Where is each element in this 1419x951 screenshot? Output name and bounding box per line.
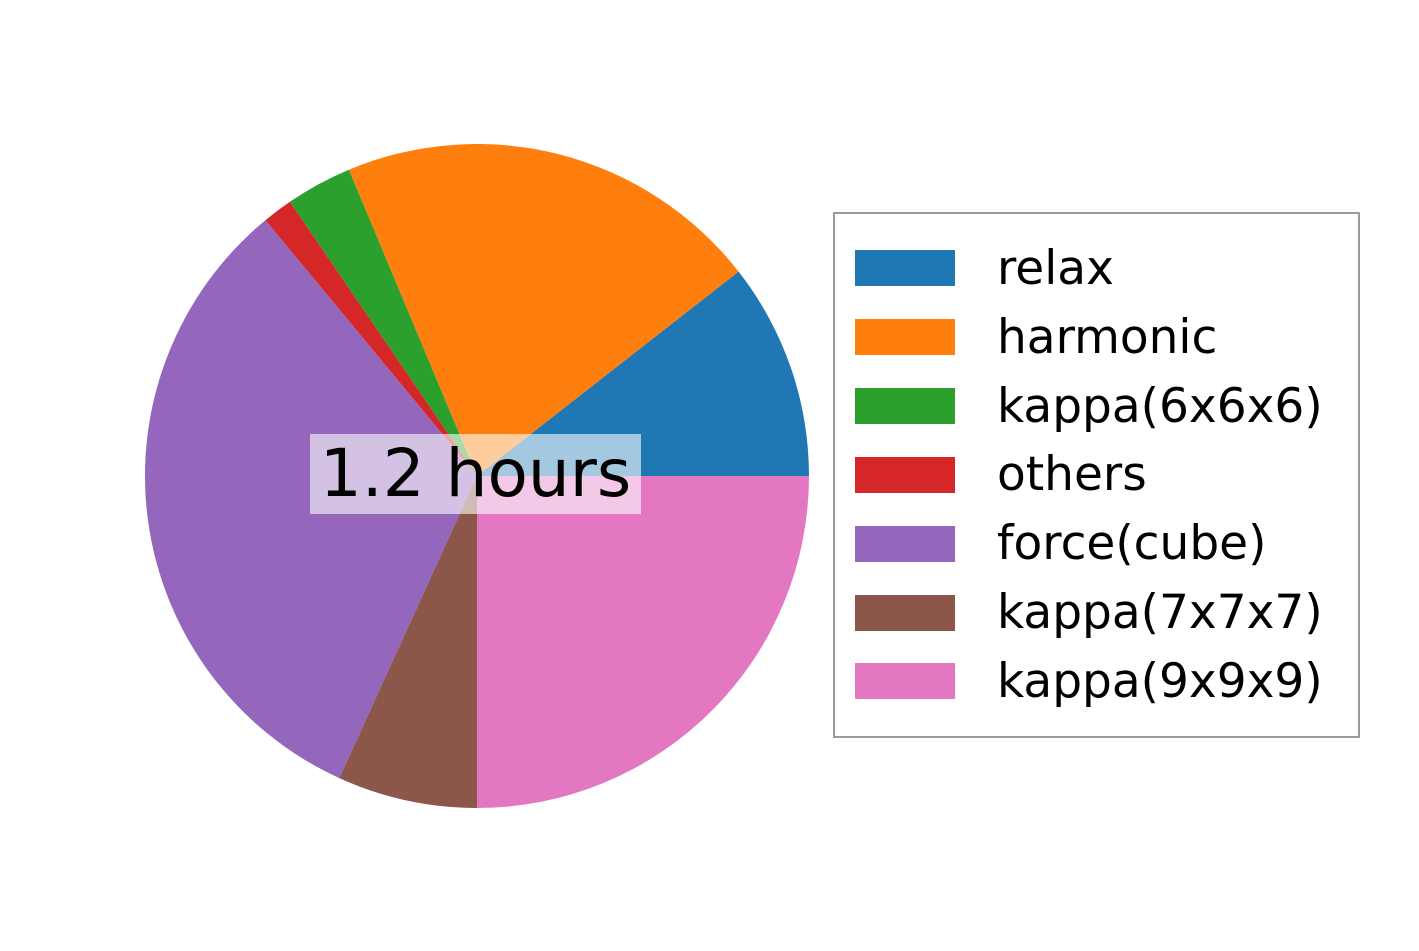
legend-entry-others: others bbox=[835, 444, 1358, 506]
legend-label: relax bbox=[997, 245, 1114, 292]
legend-label: harmonic bbox=[997, 314, 1217, 361]
legend-swatch-icon bbox=[855, 457, 955, 493]
pie-slice-kappa9x9x9 bbox=[477, 476, 809, 808]
legend-entry-kappa9x9x9: kappa(9x9x9) bbox=[835, 650, 1358, 712]
legend-entry-kappa6x6x6: kappa(6x6x6) bbox=[835, 375, 1358, 437]
legend-swatch-icon bbox=[855, 388, 955, 424]
figure-canvas: 1.2 hours relaxharmonickappa(6x6x6)other… bbox=[0, 0, 1419, 951]
legend-entry-harmonic: harmonic bbox=[835, 306, 1358, 368]
pie-center-label: 1.2 hours bbox=[310, 434, 641, 514]
legend-entry-relax: relax bbox=[835, 237, 1358, 299]
legend-entry-forcecube: force(cube) bbox=[835, 513, 1358, 575]
legend-label: force(cube) bbox=[997, 520, 1266, 567]
legend-label: others bbox=[997, 451, 1147, 498]
legend-swatch-icon bbox=[855, 663, 955, 699]
legend-swatch-icon bbox=[855, 250, 955, 286]
legend-swatch-icon bbox=[855, 526, 955, 562]
chart-legend: relaxharmonickappa(6x6x6)othersforce(cub… bbox=[833, 212, 1360, 738]
legend-label: kappa(9x9x9) bbox=[997, 658, 1323, 705]
legend-swatch-icon bbox=[855, 595, 955, 631]
legend-entry-kappa7x7x7: kappa(7x7x7) bbox=[835, 582, 1358, 644]
legend-label: kappa(7x7x7) bbox=[997, 589, 1323, 636]
legend-swatch-icon bbox=[855, 319, 955, 355]
legend-label: kappa(6x6x6) bbox=[997, 383, 1323, 430]
